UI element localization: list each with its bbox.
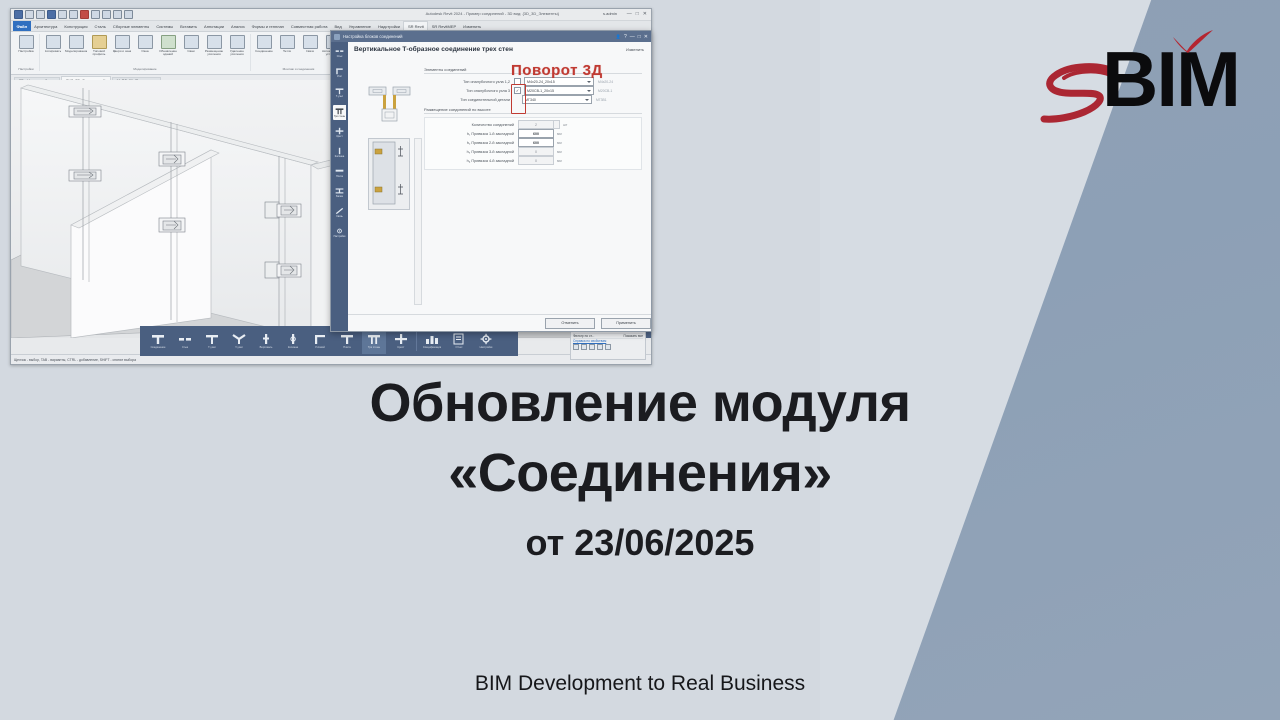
- cross-icon: [394, 333, 408, 345]
- ribbon-tab-collaborate[interactable]: Совместная работа: [287, 21, 331, 31]
- side-tab-column[interactable]: Колонна: [333, 145, 346, 160]
- ribbon-button-connection[interactable]: Соединение: [253, 34, 275, 53]
- elevation-preview-icon: [369, 139, 407, 207]
- title-line-2: «Соединения»: [140, 438, 1140, 508]
- addon-button-butt[interactable]: Стык: [173, 328, 197, 354]
- remove-icon: [230, 35, 245, 49]
- field-row-node-type-3: Тип опалубочного узла 3 ✓ М20СВ-1_20х15 …: [424, 86, 642, 95]
- three-wall-schematic-icon: [368, 84, 412, 124]
- save-icon[interactable]: [25, 10, 34, 19]
- sort-icon[interactable]: [581, 344, 587, 350]
- ribbon-button-doors[interactable]: Двери и окна: [111, 34, 133, 53]
- addon-button-label: Соединение: [151, 346, 166, 349]
- input-value: 2: [535, 123, 537, 127]
- column-icon: [286, 333, 300, 345]
- close-button[interactable]: ✕: [643, 11, 647, 17]
- butt-joint-icon: [178, 333, 192, 345]
- select-connector-part[interactable]: МГ340: [522, 95, 592, 104]
- input-value: 600: [533, 132, 539, 136]
- field-label: h₃ Привязка 3-й закладной: [428, 150, 518, 154]
- slide-date: от 23/06/2025: [140, 522, 1140, 564]
- ribbon-button-label: Соединение: [255, 50, 273, 53]
- bim-logo: BIM: [1040, 22, 1255, 132]
- field-label: Тип опалубочного узла 1,2: [424, 80, 514, 84]
- field-unit: мм: [557, 141, 562, 145]
- side-tab-butt[interactable]: Стык: [333, 45, 346, 60]
- cross-icon: [335, 127, 344, 135]
- select-node-type-3[interactable]: М20СВ-1_20х15: [524, 86, 594, 95]
- ribbon-button-links[interactable]: Связи: [299, 34, 321, 53]
- annotation-rotate-3d-text: Поворот 3Д: [511, 62, 603, 79]
- ribbon-group-modeling: Копировать Моделирование Типовой профиль…: [40, 34, 251, 71]
- tee-icon: [205, 333, 219, 345]
- butt-icon: [335, 47, 344, 55]
- redo-icon[interactable]: [69, 10, 78, 19]
- field-label: Тип опалубочного узла 3: [424, 89, 514, 93]
- side-tab-label: Стык: [337, 56, 343, 59]
- column-icon: [335, 147, 344, 155]
- addon-button-label: Т-узел: [208, 346, 216, 349]
- ribbon-button-label: Моделирование: [65, 50, 87, 53]
- annotate-icon[interactable]: [124, 10, 133, 19]
- field-shadow-text: М20СВ-1: [598, 89, 612, 93]
- field-row-h4: h₄ Привязка 4-й закладной 0 мм: [428, 156, 638, 165]
- ribbon-button-label: Настройка: [18, 50, 33, 53]
- report-icon: [452, 333, 466, 345]
- connection-settings-dialog: Настройка блоков соединений 👤 ? — □ ✕ Ст…: [330, 30, 652, 332]
- addon-button-label: Вертикаль: [260, 346, 273, 349]
- input-h1-offset[interactable]: 600: [518, 129, 554, 138]
- ribbon-group-settings: Настройка Настройки: [13, 34, 40, 71]
- side-tab-beam[interactable]: Балка: [333, 185, 346, 200]
- ribbon-tab-analyze[interactable]: Анализ: [228, 21, 249, 31]
- dialog-body: Стык Угол Т-узел Три стен: [331, 42, 651, 331]
- dialog-minimize-button[interactable]: —: [630, 34, 635, 40]
- quick-access-toolbar: Autodesk Revit 2024 - Пример соединений …: [11, 9, 651, 21]
- beam-icon: [335, 187, 344, 195]
- dialog-window-title: Настройка блоков соединений: [343, 34, 403, 39]
- field-shadow-text: М4х20-24: [598, 80, 613, 84]
- side-tab-cross[interactable]: Крест: [333, 125, 346, 140]
- ribbon-button-label: Типовой профиль: [88, 50, 110, 57]
- maximize-button[interactable]: □: [636, 11, 639, 17]
- side-tab-label: Т-узел: [336, 96, 343, 99]
- input-value: 600: [533, 141, 539, 145]
- dialog-heading: Вертикальное Т-образное соединение трех …: [354, 46, 645, 53]
- field-unit: шт: [563, 123, 567, 127]
- side-tab-label: Плита: [336, 176, 343, 179]
- tee-icon: [335, 87, 344, 95]
- ribbon-button-label: Окна: [141, 50, 148, 53]
- dialog-app-icon: [334, 34, 340, 40]
- hide-icon[interactable]: [597, 344, 603, 350]
- input-h2-offset[interactable]: 600: [518, 138, 554, 147]
- slab-icon: [340, 333, 354, 345]
- side-tab-settings[interactable]: Настройки: [333, 225, 346, 240]
- ribbon-button-label: Размещение усиления: [203, 50, 225, 57]
- ribbon-tab-massing[interactable]: Формы и генплан: [248, 21, 287, 31]
- ribbon-tab-architecture[interactable]: Архитектура: [31, 21, 61, 31]
- input-value: 0: [535, 150, 537, 154]
- minimize-button[interactable]: —: [627, 11, 632, 17]
- select-value: М4х20-24_20х15: [527, 80, 555, 84]
- side-tab-label: Связь: [336, 216, 343, 219]
- input-connection-count[interactable]: 2: [518, 120, 554, 129]
- ribbon-button-settings[interactable]: Настройка: [15, 34, 37, 53]
- ribbon-button-label: Сваи: [187, 50, 194, 53]
- corner-icon: [313, 333, 327, 345]
- ribbon-group-title: Монтаж и соединения: [283, 67, 315, 71]
- side-tab-label: Крест: [336, 136, 342, 139]
- modify-icon[interactable]: [113, 10, 122, 19]
- ribbon-button-loops[interactable]: Петли: [276, 34, 298, 53]
- select-value: М20СВ-1_20х15: [527, 89, 554, 93]
- side-tab-label: Балка: [336, 196, 343, 199]
- field-label: h₂ Привязка 2-й закладной: [428, 141, 518, 145]
- field-row-h1: h₁ Привязка 1-й закладной 600 мм: [428, 129, 638, 138]
- reinforce-icon: [207, 35, 222, 49]
- addon-button-tee[interactable]: Т-узел: [200, 328, 224, 354]
- pile-icon: [184, 35, 199, 49]
- dialog-title-bar[interactable]: Настройка блоков соединений 👤 ? — □ ✕: [331, 31, 651, 42]
- brace-icon: [335, 207, 344, 215]
- side-tab-label: Настройки: [334, 236, 346, 239]
- slide-footer-tagline: BIM Development to Real Business: [140, 672, 1140, 696]
- spinner-connection-count[interactable]: [554, 120, 560, 129]
- filter-icon[interactable]: [573, 344, 579, 350]
- side-tab-tee[interactable]: Т-узел: [333, 85, 346, 100]
- addon-button-label: Y-узел: [235, 346, 243, 349]
- field-unit: мм: [557, 150, 562, 154]
- ribbon-button-label: Удаление усиления: [226, 50, 248, 57]
- side-tab-brace[interactable]: Связь: [333, 205, 346, 220]
- side-tab-slab[interactable]: Плита: [333, 165, 346, 180]
- side-tab-label: Угол: [337, 76, 342, 79]
- ribbon-button-remove-reinforce[interactable]: Удаление усиления: [226, 34, 248, 57]
- field-row-h2: h₂ Привязка 2-й закладной 600 мм: [428, 138, 638, 147]
- elevation-preview[interactable]: [368, 138, 410, 210]
- side-tab-corner[interactable]: Угол: [333, 65, 346, 80]
- ribbon-tab-precast[interactable]: Сборные элементы: [109, 21, 152, 31]
- vertical-icon: [259, 333, 273, 345]
- addon-button-label: Отчет: [455, 346, 462, 349]
- dialog-maximize-button[interactable]: □: [638, 34, 641, 40]
- ribbon-group-title: Настройки: [18, 67, 33, 71]
- title-line-1: Обновление модуля: [370, 373, 911, 433]
- field-row-h3: h₃ Привязка 3-й закладной 0 мм: [428, 147, 638, 156]
- copy-icon: [46, 35, 61, 49]
- input-value: 0: [535, 159, 537, 163]
- addon-button-column[interactable]: Колонна: [281, 328, 305, 354]
- addon-button-corner[interactable]: Угловой: [308, 328, 332, 354]
- ribbon-tab-annotate[interactable]: Аннотации: [201, 21, 228, 31]
- corner-icon: [335, 67, 344, 75]
- addon-button-label: Плита: [343, 346, 350, 349]
- input-h3-offset[interactable]: 0: [518, 147, 554, 156]
- sync-icon[interactable]: [102, 10, 111, 19]
- field-unit: мм: [557, 132, 562, 136]
- page-title: Обновление модуля «Соединения»: [140, 368, 1140, 508]
- section-label-layout: Размещение соединений по высоте: [424, 107, 642, 114]
- ribbon-tab-systems[interactable]: Системы: [153, 21, 177, 31]
- addon-button-label: Стык: [182, 346, 188, 349]
- side-tab-label: Три стены: [334, 116, 345, 119]
- app-title: Autodesk Revit 2024 - Пример соединений …: [426, 11, 559, 16]
- ribbon-tab-file[interactable]: Файл: [13, 21, 31, 31]
- three-wall-icon: [367, 333, 381, 345]
- ribbon-button-label: Связи: [306, 50, 315, 53]
- link-icon: [303, 35, 318, 49]
- ribbon-tab-structure[interactable]: Конструкция: [61, 21, 91, 31]
- ribbon-button-refresh[interactable]: Обновление зданий: [157, 34, 179, 57]
- addon-button-label: Колонна: [288, 346, 298, 349]
- field-label: Количество соединений: [428, 123, 518, 127]
- schedule-icon: [425, 333, 439, 345]
- field-label: h₁ Привязка 1-й закладной: [428, 132, 518, 136]
- print-icon[interactable]: [80, 10, 89, 19]
- field-shadow-text: МГ3В1: [596, 98, 607, 102]
- ribbon-button-reinforce[interactable]: Размещение усиления: [203, 34, 225, 57]
- ribbon-button-label: Петли: [283, 50, 292, 53]
- refresh-icon: [161, 35, 176, 49]
- connection-schematic-preview: [368, 84, 412, 124]
- ribbon-button-label: Копировать: [45, 50, 62, 53]
- model-icon: [69, 35, 84, 49]
- ribbon-button-copy[interactable]: Копировать: [42, 34, 64, 53]
- toolbar-separator: [416, 331, 417, 351]
- ribbon-button-windows[interactable]: Окна: [134, 34, 156, 53]
- addon-button-label: Настройки: [480, 346, 493, 349]
- cancel-button[interactable]: Отменить: [545, 318, 595, 329]
- t-joint-icon: [151, 333, 165, 345]
- dialog-main-pane: Вертикальное Т-образное соединение трех …: [348, 42, 651, 331]
- addon-button-connection[interactable]: Соединение: [146, 328, 170, 354]
- side-tab-label: Колонна: [335, 156, 344, 159]
- property-value: Показать все: [624, 334, 643, 338]
- slab-icon: [335, 167, 344, 175]
- dialog-help-icon[interactable]: ?: [624, 34, 627, 40]
- ribbon-tab-insert[interactable]: Вставить: [177, 21, 201, 31]
- dialog-close-button[interactable]: ✕: [644, 34, 648, 40]
- ribbon-group-title: Моделирование: [133, 67, 156, 71]
- logo-checkmark-icon: [1170, 28, 1216, 54]
- user-account-chip[interactable]: s.admin: [603, 11, 617, 16]
- profile-icon: [92, 35, 107, 49]
- layout-panel: Количество соединений 2 шт h₁ Привязка 1…: [424, 117, 642, 170]
- dialog-side-rail: Стык Угол Т-узел Три стен: [331, 42, 348, 331]
- addon-button-label: Спецификация: [423, 346, 441, 349]
- ribbon-button-label: Обновление зданий: [157, 50, 179, 57]
- ribbon-button-profile[interactable]: Типовой профиль: [88, 34, 110, 57]
- field-label: Тип соединительной детали: [424, 98, 514, 102]
- group-icon[interactable]: [589, 344, 595, 350]
- window-icon: [138, 35, 153, 49]
- dialog-edit-link[interactable]: Изменить: [626, 47, 644, 52]
- addon-button-y-joint[interactable]: Y-узел: [227, 328, 251, 354]
- new-icon[interactable]: [47, 10, 56, 19]
- loop-icon: [280, 35, 295, 49]
- field-row-connector-part: Тип соединительной детали МГ340 МГ3В1: [424, 95, 642, 104]
- window-controls: — □ ✕: [627, 11, 647, 17]
- preview-scrollbar[interactable]: [414, 138, 422, 305]
- revit-app-icon[interactable]: [14, 10, 23, 19]
- properties-toolbar: [573, 344, 643, 350]
- ribbon-button-label: Двери и окна: [113, 50, 132, 53]
- addon-button-label: Три стены: [368, 346, 380, 349]
- addon-button-vertical[interactable]: Вертикаль: [254, 328, 278, 354]
- gear-icon: [479, 333, 493, 345]
- three-wall-icon: [335, 107, 344, 115]
- side-tab-three-wall[interactable]: Три стены: [333, 105, 346, 120]
- property-label: Фильтр по ст...: [573, 334, 594, 338]
- settings-icon: [19, 35, 34, 49]
- open-icon[interactable]: [36, 10, 45, 19]
- ribbon-button-model[interactable]: Моделирование: [65, 34, 87, 53]
- connection-icon: [257, 35, 272, 49]
- input-h4-offset[interactable]: 0: [518, 156, 554, 165]
- dialog-fields: Элементы соединений Тип опалубочного узл…: [424, 64, 642, 170]
- dialog-window-controls: ? — □ ✕: [624, 34, 648, 40]
- gear-icon: [335, 227, 344, 235]
- apply-button[interactable]: Применить: [601, 318, 651, 329]
- ribbon-button-piles[interactable]: Сваи: [180, 34, 202, 53]
- measure-icon[interactable]: [91, 10, 100, 19]
- refresh-icon[interactable]: [605, 344, 611, 350]
- door-icon: [115, 35, 130, 49]
- field-unit: мм: [557, 159, 562, 163]
- field-label: h₄ Привязка 4-й закладной: [428, 159, 518, 163]
- annotation-highlight-box: [511, 84, 526, 114]
- properties-help-link[interactable]: Справка по свойствам: [573, 339, 643, 343]
- addon-button-label: Крест: [398, 346, 405, 349]
- addon-button-label: Угловой: [315, 346, 325, 349]
- dialog-footer: Отменить Применить: [348, 314, 652, 331]
- select-value: МГ340: [525, 98, 536, 102]
- field-row-count: Количество соединений 2 шт: [428, 120, 638, 129]
- undo-icon[interactable]: [58, 10, 67, 19]
- y-joint-icon: [232, 333, 246, 345]
- ribbon-tab-steel[interactable]: Сталь: [91, 21, 109, 31]
- dialog-user-icon[interactable]: 👤: [616, 34, 621, 40]
